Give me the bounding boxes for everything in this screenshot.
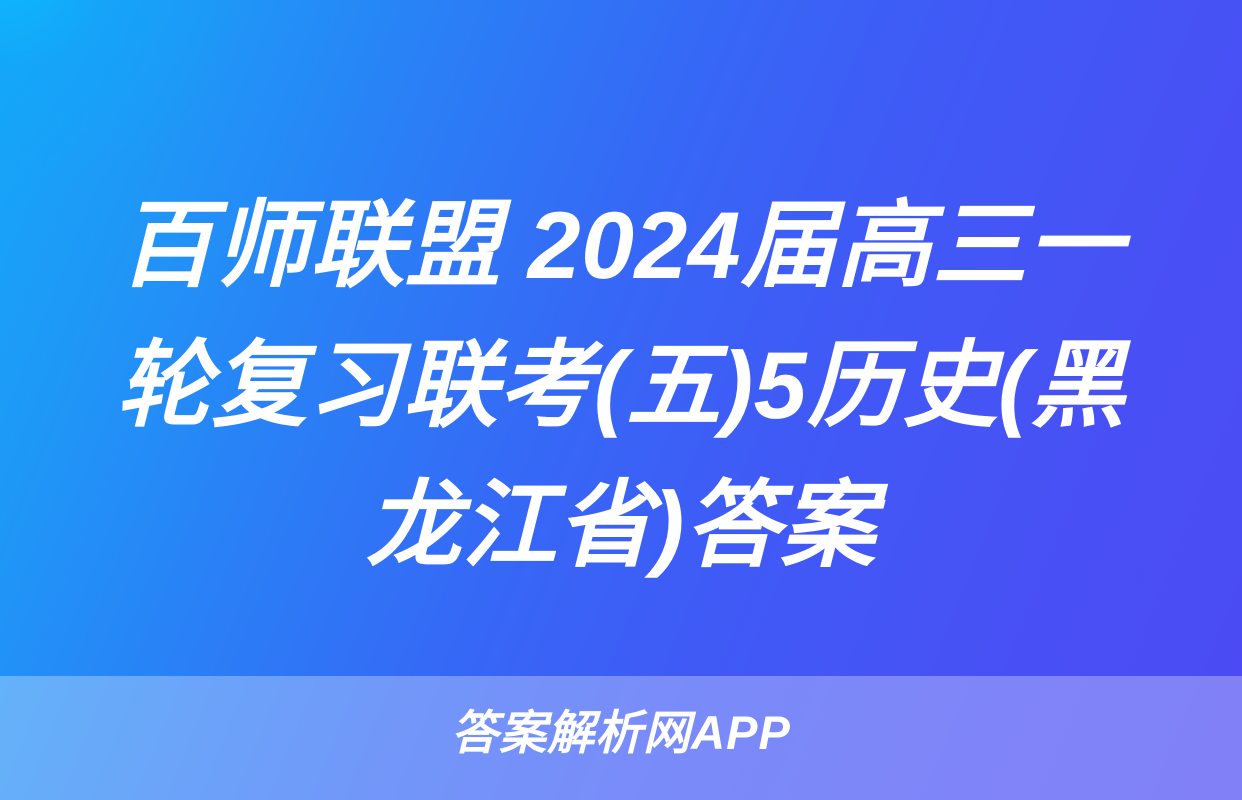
poster-canvas: 百师联盟 2024届高三一 轮复习联考(五)5历史(黑 龙江省)答案 答案解析网… bbox=[0, 0, 1242, 800]
title-line-2: 轮复习联考(五)5历史(黑 bbox=[0, 316, 1242, 456]
page-title: 百师联盟 2024届高三一 轮复习联考(五)5历史(黑 龙江省)答案 bbox=[0, 176, 1242, 596]
watermark-app-name: 答案解析网APP bbox=[0, 702, 1242, 764]
title-line-3: 龙江省)答案 bbox=[0, 456, 1242, 596]
title-line-1: 百师联盟 2024届高三一 bbox=[0, 176, 1242, 316]
